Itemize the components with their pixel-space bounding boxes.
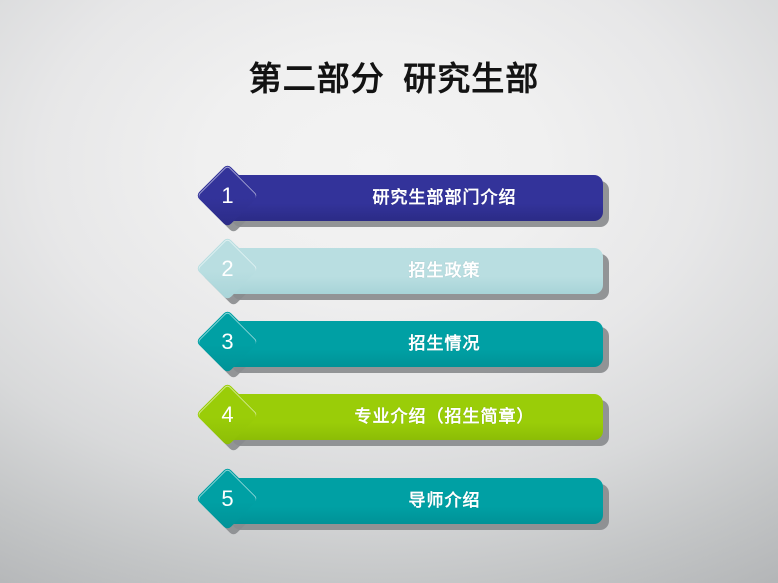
agenda-item-label: 研究生部部门介绍 — [286, 175, 603, 221]
agenda-bar[interactable]: 招生情况 — [226, 321, 603, 367]
agenda-number: 4 — [205, 392, 250, 437]
agenda-item[interactable]: 招生政策2 — [0, 243, 778, 305]
agenda-item[interactable]: 招生情况3 — [0, 316, 778, 378]
page-title: 第二部分 研究生部 — [0, 52, 778, 100]
agenda-number: 3 — [205, 319, 250, 364]
agenda-bar[interactable]: 招生政策 — [226, 248, 603, 294]
agenda-item-label: 招生政策 — [286, 248, 603, 294]
agenda-bar[interactable]: 研究生部部门介绍 — [226, 175, 603, 221]
agenda-number: 1 — [205, 173, 250, 218]
agenda-item-label: 导师介绍 — [286, 478, 603, 524]
agenda-number: 2 — [205, 246, 250, 291]
agenda-bar[interactable]: 导师介绍 — [226, 478, 603, 524]
agenda-bar[interactable]: 专业介绍（招生简章） — [226, 394, 603, 440]
agenda-item-label: 专业介绍（招生简章） — [286, 394, 603, 440]
agenda-item-label: 招生情况 — [286, 321, 603, 367]
agenda-item[interactable]: 专业介绍（招生简章）4 — [0, 389, 778, 451]
slide-canvas: 第二部分 研究生部 研究生部部门介绍1招生政策2招生情况3专业介绍（招生简章）4… — [0, 0, 778, 583]
agenda-item[interactable]: 研究生部部门介绍1 — [0, 170, 778, 232]
agenda-item[interactable]: 导师介绍5 — [0, 473, 778, 535]
agenda-number: 5 — [205, 476, 250, 521]
